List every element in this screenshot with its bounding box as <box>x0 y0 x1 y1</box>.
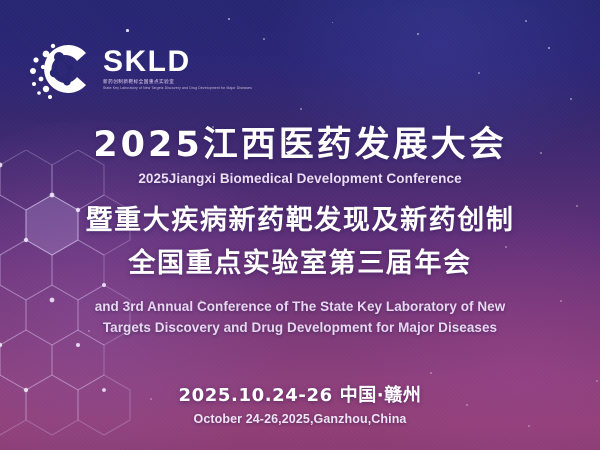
skld-subtitle-en: State Key Laboratory of New Targets Disc… <box>103 86 252 90</box>
date-location-block: 2025.10.24-26 中国·赣州 October 24-26,2025,G… <box>0 381 600 426</box>
skld-wordmark-block: SKLD 新药创制新靶标全国重点实验室 State Key Laboratory… <box>103 47 252 91</box>
conference-subtitle-en-line1: and 3rd Annual Conference of The State K… <box>0 296 600 317</box>
background-glow-left <box>0 120 300 450</box>
hexagon-lattice-decoration <box>0 150 208 450</box>
date-location-en: October 24-26,2025,Ganzhou,China <box>0 412 600 426</box>
skld-logo: SKLD 新药创制新靶标全国重点实验室 State Key Laboratory… <box>26 33 252 105</box>
background-glow-right <box>340 200 600 450</box>
date-location-cn: 2025.10.24-26 中国·赣州 <box>0 381 600 407</box>
conference-subtitle-cn-line2: 全国重点实验室第三届年会 <box>0 245 600 283</box>
conference-title-cn: 2025江西医药发展大会 <box>0 126 600 165</box>
conference-title-en: 2025Jiangxi Biomedical Development Confe… <box>0 171 600 186</box>
conference-poster: SKLD 新药创制新靶标全国重点实验室 State Key Laboratory… <box>0 0 600 450</box>
background-glow-top <box>240 0 600 170</box>
conference-subtitle-en-line2: Targets Discovery and Drug Development f… <box>0 317 600 338</box>
conference-subtitle-cn-line1: 暨重大疾病新药靶发现及新药创制 <box>0 202 600 240</box>
skld-molecular-c-icon <box>26 33 98 105</box>
skld-wordmark: SKLD <box>103 47 252 77</box>
headline-block: 2025江西医药发展大会 2025Jiangxi Biomedical Deve… <box>0 126 600 339</box>
